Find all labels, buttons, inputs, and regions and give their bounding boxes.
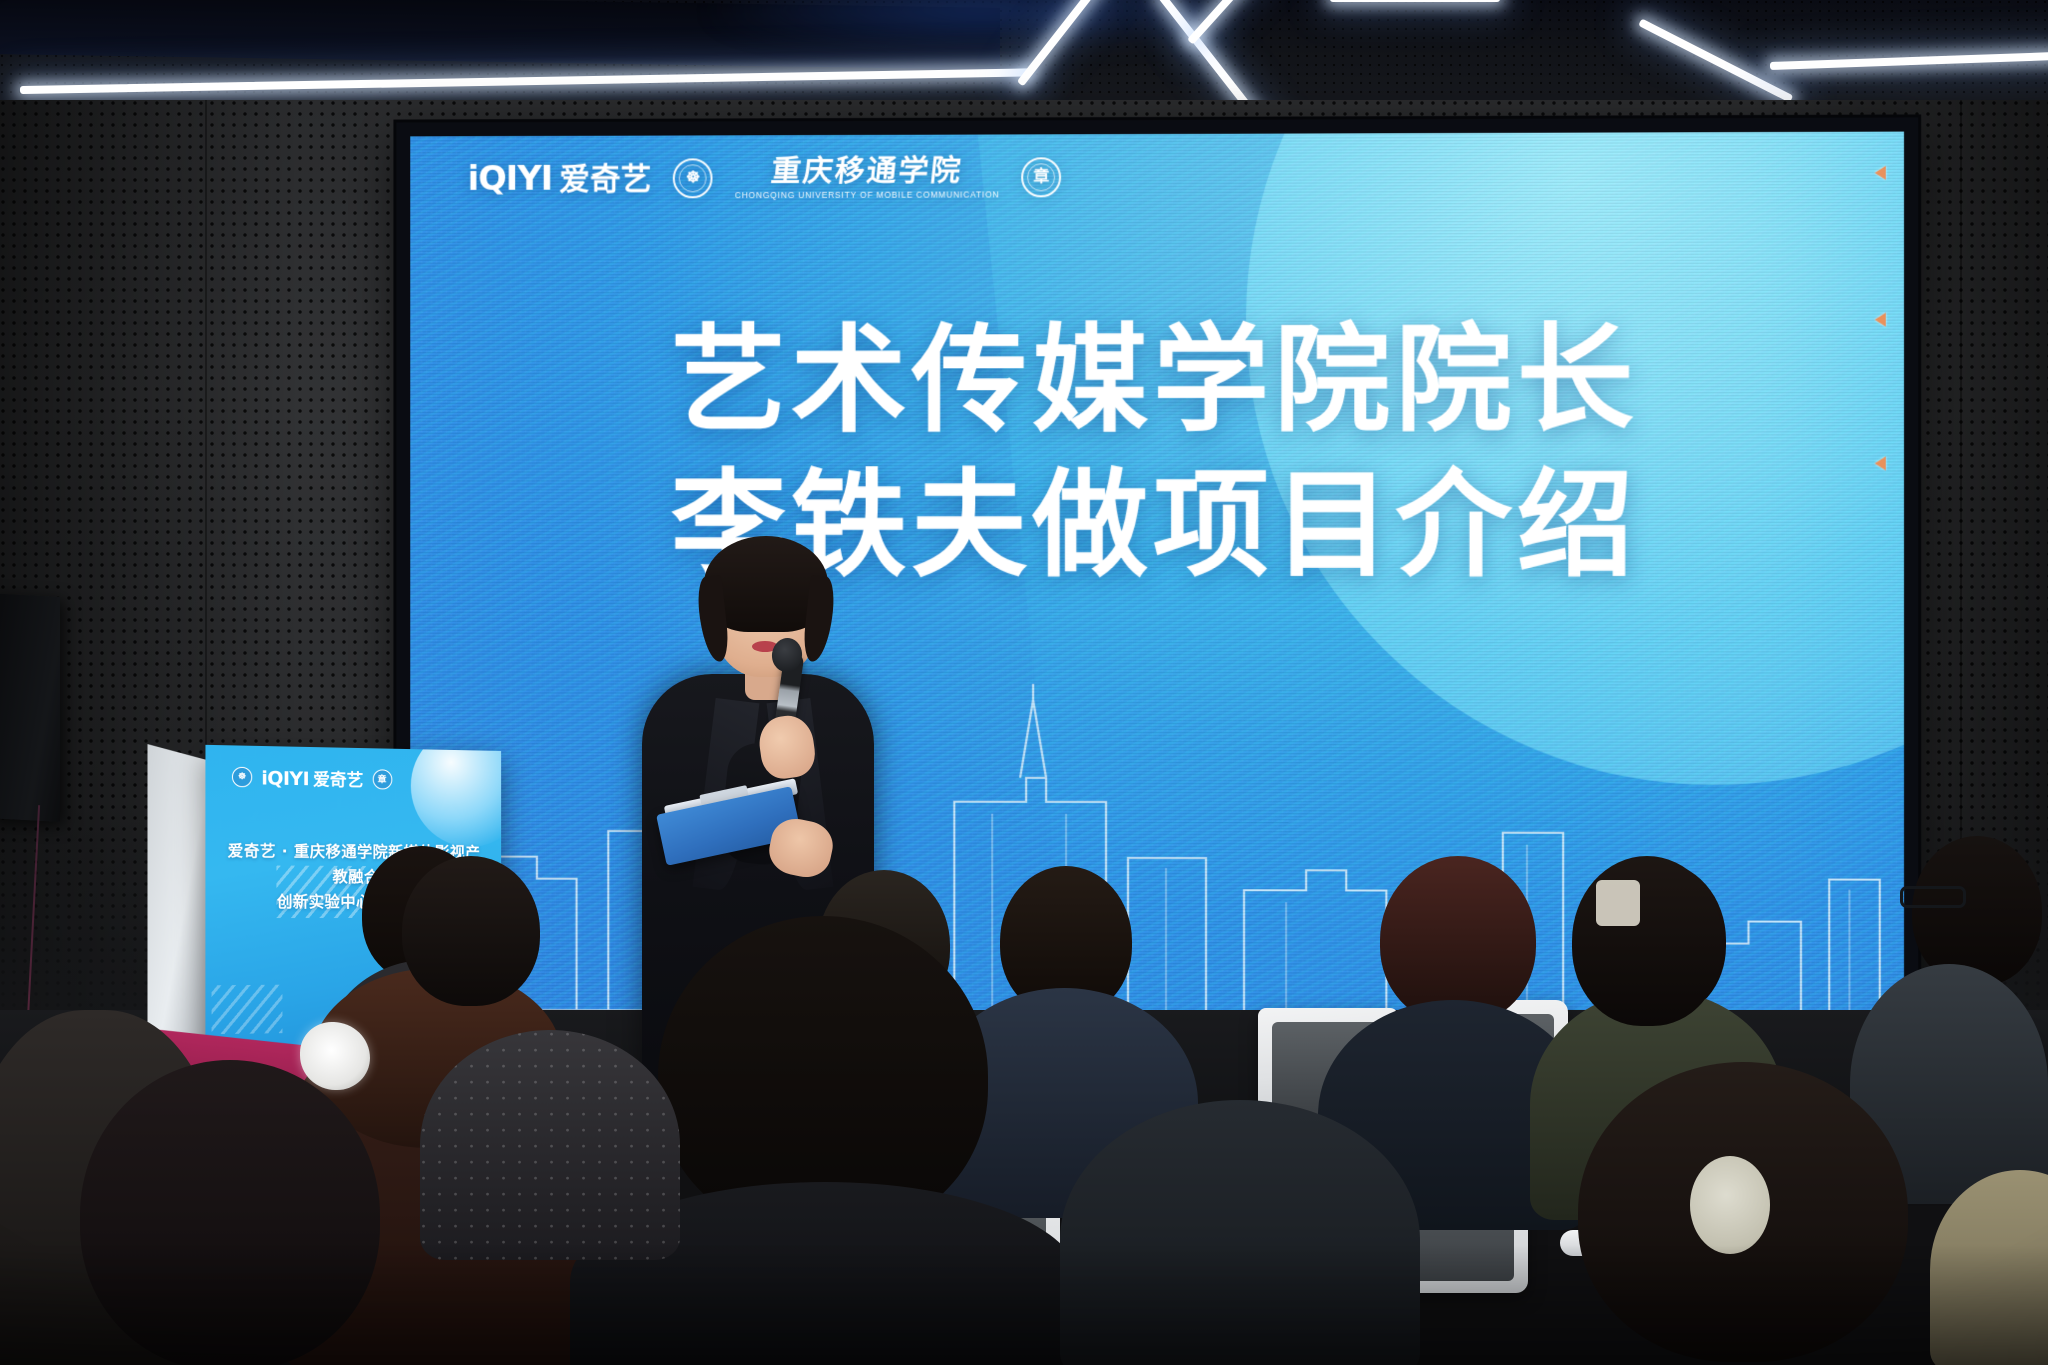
- audience-head: [1912, 836, 2042, 986]
- headline-line-2: 李铁夫做项目介绍: [410, 450, 1904, 602]
- audience-torso: [1060, 1100, 1420, 1365]
- audience-head: [80, 1060, 380, 1365]
- hair-tie-icon: [1690, 1156, 1770, 1254]
- audience-head: [1380, 856, 1536, 1024]
- university-name-en: CHONGQING UNIVERSITY OF MOBILE COMMUNICA…: [735, 190, 1000, 199]
- podium-seal-icon: 章: [372, 769, 392, 789]
- photo-scene: iQIYI 爱奇艺 ☸ 重庆移通学院 CHONGQING UNIVERSITY …: [0, 0, 2048, 1365]
- audience-head: [402, 856, 540, 1006]
- podium-hatch-pattern: [212, 985, 283, 1035]
- screen-edge-markers: [1862, 132, 1892, 1015]
- edge-marker-icon: [1875, 456, 1886, 470]
- podium-emblem-glyph: ☸: [238, 771, 246, 782]
- podium-iqiyi-logo: iQIYI 爱奇艺: [261, 764, 363, 791]
- podium-iqiyi-cn: 爱奇艺: [313, 765, 363, 791]
- audience-sequin-jacket: [420, 1030, 680, 1260]
- iqiyi-latin-text: iQIYI: [468, 162, 553, 196]
- podium-decorative-sphere: [411, 745, 501, 848]
- screen-logo-bar: iQIYI 爱奇艺 ☸ 重庆移通学院 CHONGQING UNIVERSITY …: [468, 156, 1062, 200]
- edge-marker-icon: [1875, 313, 1886, 327]
- secondary-seal-icon: 章: [1021, 158, 1061, 198]
- podium-iqiyi-latin: iQIYI: [261, 767, 309, 790]
- eyeglasses-icon: [1900, 886, 1966, 908]
- wall-loudspeaker: [0, 593, 60, 822]
- headline-line-1: 艺术传媒学院院长: [410, 305, 1904, 458]
- university-logo: 重庆移通学院 CHONGQING UNIVERSITY OF MOBILE CO…: [735, 156, 1000, 199]
- flower-hair-clip: [300, 1022, 370, 1090]
- university-emblem-icon: ☸: [673, 159, 713, 199]
- podium-seal-glyph: 章: [378, 772, 387, 785]
- seal-glyph: 章: [1033, 170, 1049, 186]
- hair-clip-icon: [1596, 880, 1640, 926]
- university-name-cn: 重庆移通学院: [770, 157, 964, 188]
- podium-emblem-icon: ☸: [232, 766, 252, 787]
- emblem-glyph: ☸: [686, 171, 700, 187]
- iqiyi-logo: iQIYI 爱奇艺: [468, 162, 652, 196]
- podium-logo-row: ☸ iQIYI 爱奇艺 章: [232, 764, 392, 792]
- podium-side-panel: [148, 744, 210, 1066]
- screen-headline: 艺术传媒学院院长 李铁夫做项目介绍: [410, 305, 1904, 602]
- edge-marker-icon: [1875, 166, 1886, 180]
- ceiling-led-strip: [1330, 0, 1500, 2]
- iqiyi-chinese-text: 爱奇艺: [559, 165, 651, 196]
- audience-head: [1572, 856, 1722, 1026]
